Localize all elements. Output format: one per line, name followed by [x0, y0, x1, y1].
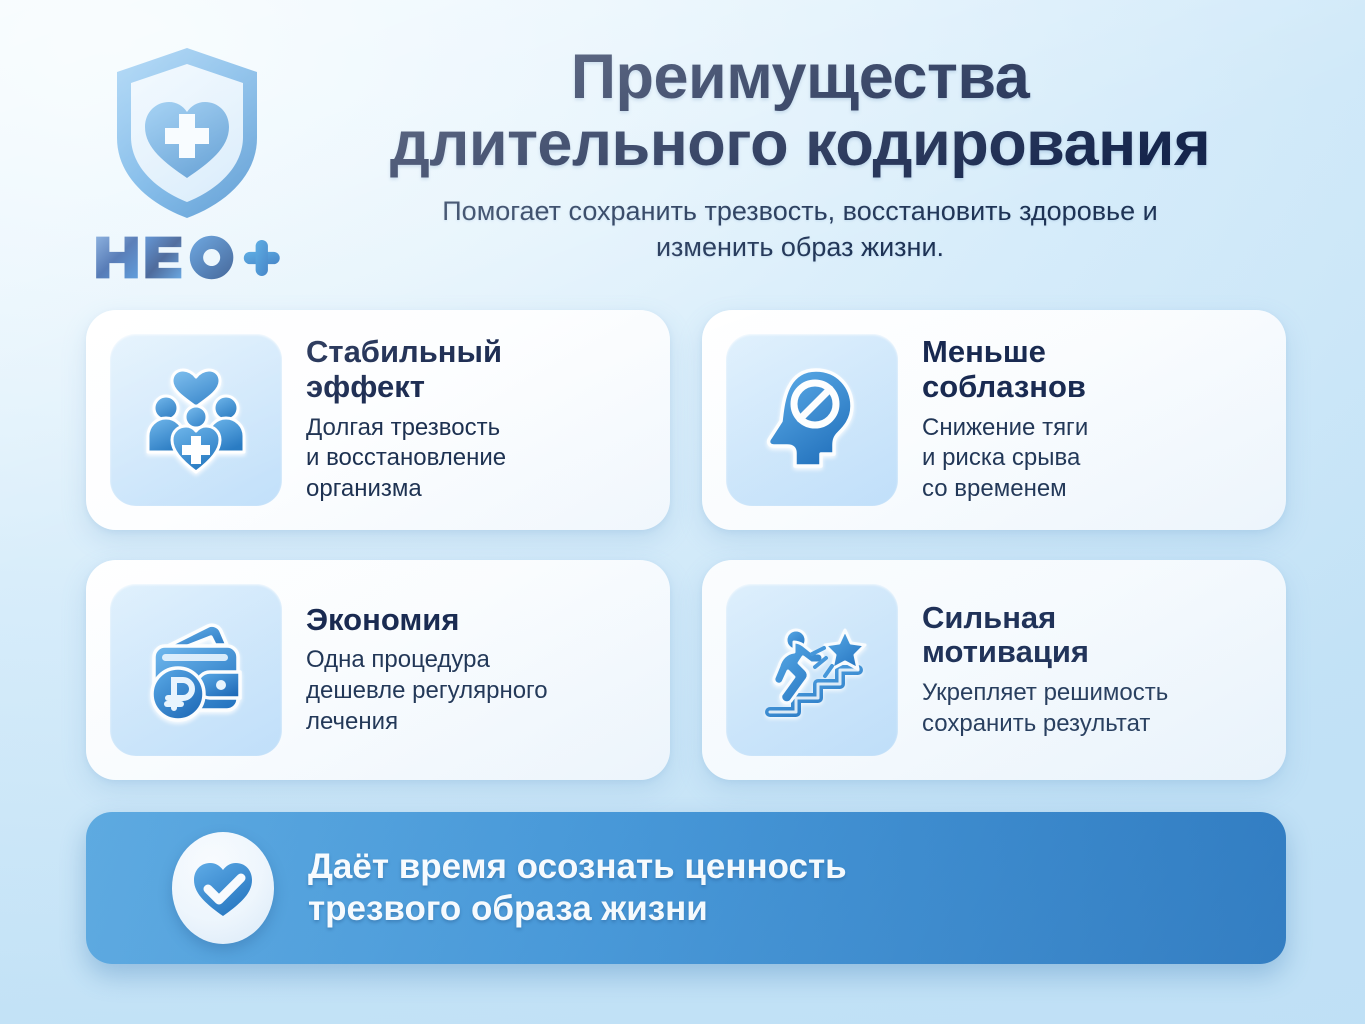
card-description: Укрепляет решимость сохранить результат — [922, 678, 1260, 739]
card-title-line-2: эффект — [306, 369, 425, 404]
card-description: Долгая трезвость и восстановление органи… — [306, 413, 644, 505]
card-desc-line-2: сохранить результат — [922, 710, 1150, 737]
infographic-poster: Преимущества длительного кодирования Пом… — [0, 0, 1365, 1024]
subtitle-line-1: Помогает сохранить трезвость, восстанови… — [442, 196, 1011, 226]
brand-wordmark — [82, 228, 292, 286]
title-line-1: Преимущества — [571, 42, 1030, 112]
benefit-card-savings[interactable]: Экономия Одна процедура дешевле регулярн… — [86, 560, 670, 780]
card-desc-line-3: лечения — [306, 708, 398, 735]
card-desc-line-1: Укрепляет решимость — [922, 679, 1168, 706]
card-title-line-1: Меньше — [922, 334, 1046, 369]
title-block: Преимущества длительного кодирования Пом… — [300, 44, 1300, 266]
benefits-row-2: Экономия Одна процедура дешевле регулярн… — [86, 560, 1286, 780]
footer-banner[interactable]: Даёт время осознать ценность трезвого об… — [86, 812, 1286, 964]
card-title-line-1: Сильная — [922, 600, 1056, 635]
card-desc-line-1: Снижение тяги — [922, 414, 1088, 441]
card-description: Одна процедура дешевле регулярного лечен… — [306, 645, 644, 737]
card-title: Меньше соблазнов — [922, 335, 1260, 404]
header: Преимущества длительного кодирования Пом… — [0, 0, 1365, 300]
card-text: Стабильный эффект Долгая трезвость и вос… — [306, 335, 644, 505]
card-title-line-1: Стабильный — [306, 334, 502, 369]
card-title-line-1: Экономия — [306, 602, 459, 637]
benefit-card-stable-effect[interactable]: Стабильный эффект Долгая трезвость и вос… — [86, 310, 670, 530]
card-desc-line-1: Одна процедура — [306, 646, 490, 673]
card-description: Снижение тяги и риска срыва со временем — [922, 413, 1260, 505]
family-heart-plus-icon — [110, 334, 282, 506]
card-desc-line-3: организма — [306, 475, 422, 502]
page-subtitle: Помогает сохранить трезвость, восстанови… — [420, 193, 1180, 266]
person-stairs-star-icon — [726, 584, 898, 756]
card-title: Стабильный эффект — [306, 335, 644, 404]
card-desc-line-1: Долгая трезвость — [306, 414, 500, 441]
brand-logo — [82, 44, 292, 286]
card-desc-line-2: и восстановление — [306, 444, 506, 471]
head-no-entry-icon — [726, 334, 898, 506]
card-text: Меньше соблазнов Снижение тяги и риска с… — [922, 335, 1260, 505]
banner-line-1: Даёт время осознать ценность — [308, 847, 847, 886]
banner-line-2: трезвого образа жизни — [308, 888, 847, 930]
card-title: Сильная мотивация — [922, 601, 1260, 670]
card-text: Экономия Одна процедура дешевле регулярн… — [306, 603, 644, 738]
benefit-card-strong-motivation[interactable]: Сильная мотивация Укрепляет решимость со… — [702, 560, 1286, 780]
card-desc-line-2: дешевле регулярного — [306, 677, 548, 704]
title-line-2: длительного кодирования — [300, 111, 1300, 178]
benefits-grid: Стабильный эффект Долгая трезвость и вос… — [86, 310, 1286, 810]
card-title: Экономия — [306, 603, 644, 638]
card-desc-line-3: со временем — [922, 475, 1067, 502]
shield-heart-plus-icon — [107, 44, 267, 222]
wallet-ruble-coin-icon — [110, 584, 282, 756]
heart-check-icon — [172, 832, 274, 944]
card-title-line-2: соблазнов — [922, 369, 1086, 404]
card-desc-line-2: и риска срыва — [922, 444, 1080, 471]
card-text: Сильная мотивация Укрепляет решимость со… — [922, 601, 1260, 740]
card-title-line-2: мотивация — [922, 634, 1089, 669]
page-title: Преимущества длительного кодирования — [300, 44, 1300, 179]
benefits-row-1: Стабильный эффект Долгая трезвость и вос… — [86, 310, 1286, 530]
banner-message: Даёт время осознать ценность трезвого об… — [308, 846, 847, 930]
benefit-card-fewer-temptations[interactable]: Меньше соблазнов Снижение тяги и риска с… — [702, 310, 1286, 530]
